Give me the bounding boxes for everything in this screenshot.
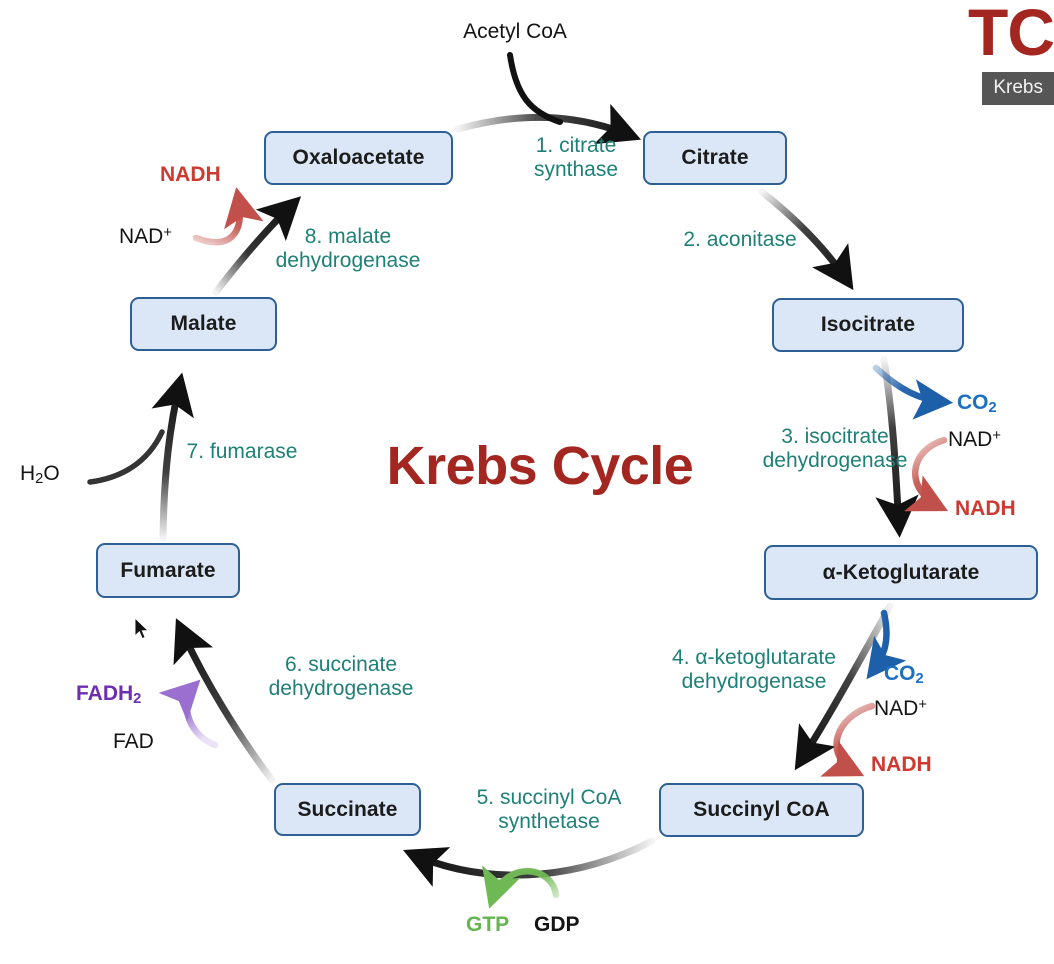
metabolite-box-citrate[interactable]: Citrate	[643, 131, 787, 185]
metabolite-box-malate[interactable]: Malate	[130, 297, 277, 351]
metabolite-box-fumarate[interactable]: Fumarate	[96, 543, 240, 598]
substrate-label-nad-plus-step-8: NAD+	[119, 225, 172, 249]
substrate-label-fad: FAD	[113, 730, 154, 754]
enzyme-label-step-5: 5. succinyl CoA synthetase	[451, 786, 647, 835]
substrate-label-co2-step-4: CO2	[884, 662, 924, 687]
substrate-label-gdp: GDP	[534, 913, 580, 937]
metabolite-box-succinate[interactable]: Succinate	[274, 783, 421, 836]
substrate-label-nadh-step-4: NADH	[871, 753, 932, 777]
metabolite-box-alpha-ketoglutarate[interactable]: α-Ketoglutarate	[764, 545, 1038, 600]
corner-logo-text: TC	[968, 0, 1054, 70]
enzyme-label-step-6: 6. succinate dehydrogenase	[241, 653, 441, 702]
substrate-label-gtp: GTP	[466, 913, 509, 937]
substrate-label-nadh-step-8: NADH	[160, 163, 221, 187]
enzyme-label-step-7: 7. fumarase	[162, 440, 322, 464]
arrow-acetyl-coa-input	[510, 55, 560, 122]
mouse-cursor	[134, 617, 150, 641]
metabolite-box-oxaloacetate[interactable]: Oxaloacetate	[264, 131, 453, 185]
substrate-label-nadh-step-3: NADH	[955, 497, 1016, 521]
corner-tooltip: Krebs	[982, 72, 1054, 105]
enzyme-label-step-3: 3. isocitrate dehydrogenase	[735, 425, 935, 474]
enzyme-label-step-2: 2. aconitase	[660, 228, 820, 252]
arrow-h2o-input	[90, 432, 162, 482]
substrate-label-fadh2: FADH2	[76, 682, 141, 707]
enzyme-label-step-8: 8. malate dehydrogenase	[248, 225, 448, 274]
arrow-step-6	[180, 627, 272, 780]
substrate-label-nad-plus-step-4: NAD+	[874, 697, 927, 721]
substrate-label-co2-step-3: CO2	[957, 391, 997, 416]
enzyme-label-step-1: 1. citrate synthase	[493, 134, 659, 183]
metabolite-box-succinyl-coa[interactable]: Succinyl CoA	[659, 783, 864, 837]
metabolite-box-isocitrate[interactable]: Isocitrate	[772, 298, 964, 352]
arrow-nadh-step-8	[196, 196, 240, 242]
substrate-label-nad-plus-step-3: NAD+	[948, 428, 1001, 452]
substrate-label-h2o: H2O	[20, 462, 60, 487]
arrow-nadh-step-4	[837, 706, 872, 772]
arrow-fadh2-step-6	[187, 686, 215, 745]
enzyme-label-step-4: 4. α-ketoglutarate dehydrogenase	[639, 646, 869, 695]
substrate-label-acetyl-coa: Acetyl CoA	[440, 20, 590, 44]
krebs-cycle-diagram: Oxaloacetate Citrate Isocitrate α-Ketogl…	[0, 0, 1054, 964]
diagram-center-title: Krebs Cycle	[355, 435, 725, 497]
